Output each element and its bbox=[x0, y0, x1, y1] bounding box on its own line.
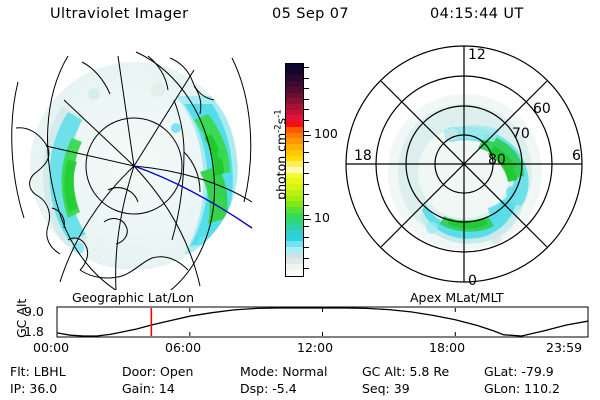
colorbar-tick bbox=[304, 88, 309, 89]
observation-date: 05 Sep 07 bbox=[272, 6, 349, 22]
colorbar-title-exp2: -1 bbox=[273, 109, 283, 117]
mlt-label-12: 12 bbox=[468, 47, 486, 63]
colorbar-label-10: 10 bbox=[314, 212, 330, 225]
colorbar-tick bbox=[304, 131, 309, 132]
status-door: Door: Open bbox=[122, 364, 193, 379]
mlt-label-0: 0 bbox=[468, 273, 477, 289]
mlt-spokes bbox=[346, 46, 582, 282]
colorbar-tick bbox=[304, 99, 309, 100]
colorbar-tick bbox=[304, 67, 309, 68]
header-bar: Ultraviolet Imager 05 Sep 07 04:15:44 UT bbox=[0, 6, 600, 28]
colorbar-tick bbox=[304, 258, 309, 259]
colorbar-legend: photon cm-2s-1 100 10 bbox=[255, 55, 345, 287]
colorbar-tick bbox=[304, 237, 309, 238]
altitude-xtick-2: 12:00 bbox=[297, 340, 333, 355]
magnetic-polar-image: 12 18 6 0 60 70 80 bbox=[336, 42, 592, 292]
observation-time: 04:15:44 UT bbox=[430, 6, 524, 22]
status-dsp: Dsp: -5.4 bbox=[240, 381, 297, 396]
altitude-xtick-0: 00:00 bbox=[33, 340, 69, 355]
colorbar-major-tick bbox=[304, 135, 311, 136]
colorbar-tick bbox=[304, 205, 309, 206]
status-ip: IP: 36.0 bbox=[10, 381, 57, 396]
instrument-title: Ultraviolet Imager bbox=[50, 6, 188, 22]
colorbar-tick bbox=[304, 215, 309, 216]
colorbar-band bbox=[286, 270, 303, 276]
colorbar-tick bbox=[304, 109, 309, 110]
colorbar-tick bbox=[304, 78, 309, 79]
altitude-xtick-3: 18:00 bbox=[429, 340, 465, 355]
colorbar-tick bbox=[304, 268, 309, 269]
mlt-label-18: 18 bbox=[354, 148, 372, 164]
colorbar-major-tick bbox=[304, 219, 311, 220]
colorbar-tick bbox=[304, 247, 309, 248]
uv-imager-window: Ultraviolet Imager 05 Sep 07 04:15:44 UT bbox=[0, 0, 600, 400]
status-seq: Seq: 39 bbox=[362, 381, 410, 396]
mlat-label-70: 70 bbox=[512, 126, 530, 142]
colorbar-tick bbox=[304, 162, 309, 163]
status-gain: Gain: 14 bbox=[122, 381, 175, 396]
mlat-label-60: 60 bbox=[533, 101, 551, 117]
altitude-xtick-4: 23:59 bbox=[546, 340, 582, 355]
status-glat: GLat: -79.9 bbox=[484, 364, 554, 379]
colorbar-gradient bbox=[285, 63, 304, 277]
mlat-label-80: 80 bbox=[488, 152, 506, 168]
colorbar-tick bbox=[304, 173, 309, 174]
mlt-label-6: 6 bbox=[572, 148, 581, 164]
spacecraft-altitude-timeline: Geographic Lat/Lon Apex MLat/MLT GC Alt … bbox=[0, 290, 600, 356]
geographic-image bbox=[8, 42, 256, 290]
auroral-oval-overlay bbox=[388, 94, 542, 250]
status-mode: Mode: Normal bbox=[240, 364, 327, 379]
colorbar-label-100: 100 bbox=[314, 128, 338, 141]
colorbar-tick bbox=[304, 226, 309, 227]
colorbar-tick bbox=[304, 194, 309, 195]
magnetic-polar-panel: 12 18 6 0 60 70 80 bbox=[336, 42, 592, 292]
altitude-xtick-1: 06:00 bbox=[165, 340, 201, 355]
status-readout-block: Flt: LBHL Door: Open Mode: Normal GC Alt… bbox=[0, 364, 600, 400]
status-gc-alt: GC Alt: 5.8 Re bbox=[362, 364, 449, 379]
colorbar-tick bbox=[304, 141, 309, 142]
colorbar-tick bbox=[304, 120, 309, 121]
colorbar-tick bbox=[304, 184, 309, 185]
geographic-projection-panel bbox=[8, 42, 256, 290]
status-glon: GLon: 110.2 bbox=[484, 381, 560, 396]
status-filter: Flt: LBHL bbox=[10, 364, 66, 379]
colorbar-title-exp1: -2 bbox=[273, 124, 283, 132]
colorbar-tick bbox=[304, 152, 309, 153]
